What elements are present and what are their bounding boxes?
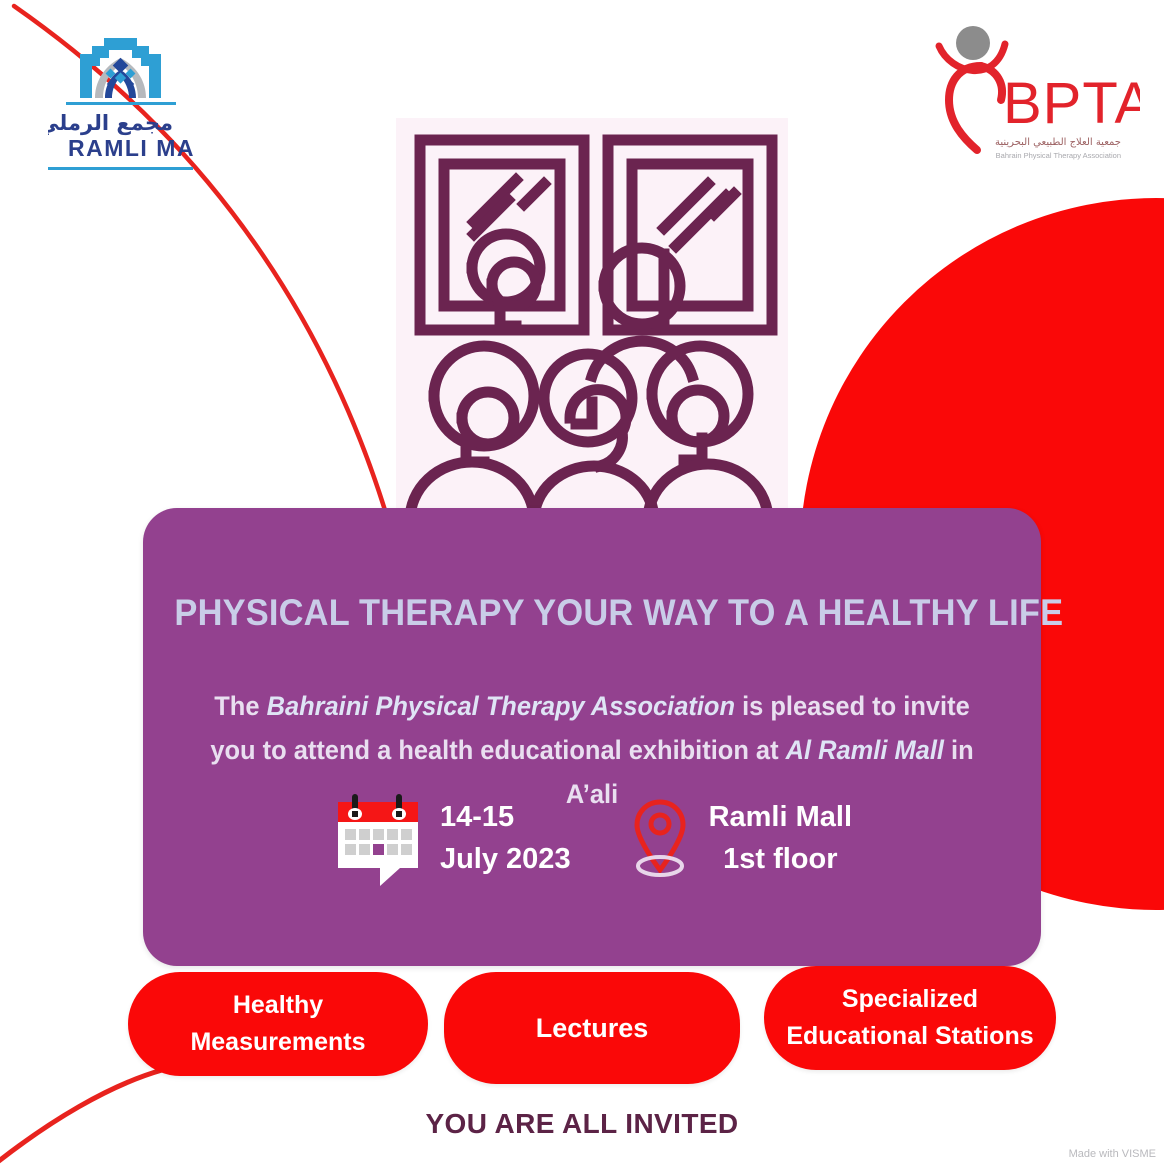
visme-watermark: Made with VISME	[1069, 1148, 1156, 1160]
ramli-underline	[48, 167, 193, 170]
bpta-arabic-subtitle: جمعية العلاج الطبيعي البحرينية	[995, 137, 1121, 148]
pill-1-line1: Lectures	[536, 1010, 649, 1047]
pill-0-line2: Measurements	[190, 1024, 365, 1061]
bpta-logo-mark: BPTA جمعية العلاج الطبيعي البحرينية Bahr…	[925, 18, 1140, 188]
body-part-1: The	[214, 691, 266, 721]
bpta-acronym: BPTA	[1003, 71, 1140, 136]
feature-pill-lectures[interactable]: Lectures	[444, 972, 740, 1084]
pill-2-line2: Educational Stations	[786, 1018, 1033, 1055]
event-location-text: Ramli Mall 1st floor	[709, 796, 852, 880]
bpta-head-circle	[956, 26, 990, 60]
event-date-line2: July 2023	[440, 838, 571, 880]
pill-0-line1: Healthy	[190, 987, 365, 1024]
pill-2-line1: Specialized	[786, 981, 1033, 1018]
invitation-card: PHYSICAL THERAPY YOUR WAY TO A HEALTHY L…	[143, 508, 1041, 966]
ramli-mall-logo-mark: مجمع الرملي RAMLI MALL	[48, 30, 193, 165]
event-meta-row: 14-15 July 2023 Ramli Mall 1st floor	[143, 790, 1041, 886]
exhibition-illustration-art	[396, 118, 788, 530]
ramli-latin-text: RAMLI MALL	[68, 135, 193, 161]
exhibition-visitors-illustration	[396, 118, 788, 530]
feature-pill-healthy-measurements[interactable]: Healthy Measurements	[128, 972, 428, 1076]
event-location-line1: Ramli Mall	[709, 796, 852, 838]
event-date-item: 14-15 July 2023	[332, 790, 571, 886]
call-to-action-text: YOU ARE ALL INVITED	[0, 1108, 1164, 1140]
location-pin-icon	[627, 792, 693, 884]
bpta-latin-subtitle: Bahrain Physical Therapy Association	[996, 151, 1121, 160]
feature-pill-educational-stations[interactable]: Specialized Educational Stations	[764, 966, 1056, 1070]
event-date-text: 14-15 July 2023	[440, 796, 571, 880]
body-emphasis-venue: Al Ramli Mall	[786, 735, 944, 765]
poster-canvas: مجمع الرملي RAMLI MALL BPTA جمعية العلاج…	[0, 0, 1164, 1170]
event-location-item: Ramli Mall 1st floor	[627, 792, 852, 884]
event-date-line1: 14-15	[440, 796, 571, 838]
body-emphasis-association: Bahraini Physical Therapy Association	[267, 691, 735, 721]
calendar-icon	[332, 790, 424, 886]
ramli-mall-logo: مجمع الرملي RAMLI MALL	[48, 30, 193, 170]
event-location-line2: 1st floor	[709, 838, 852, 880]
ramli-arabic-text: مجمع الرملي	[48, 111, 173, 135]
bpta-logo: BPTA جمعية العلاج الطبيعي البحرينية Bahr…	[925, 18, 1140, 188]
page-title: PHYSICAL THERAPY YOUR WAY TO A HEALTHY L…	[174, 592, 1009, 634]
